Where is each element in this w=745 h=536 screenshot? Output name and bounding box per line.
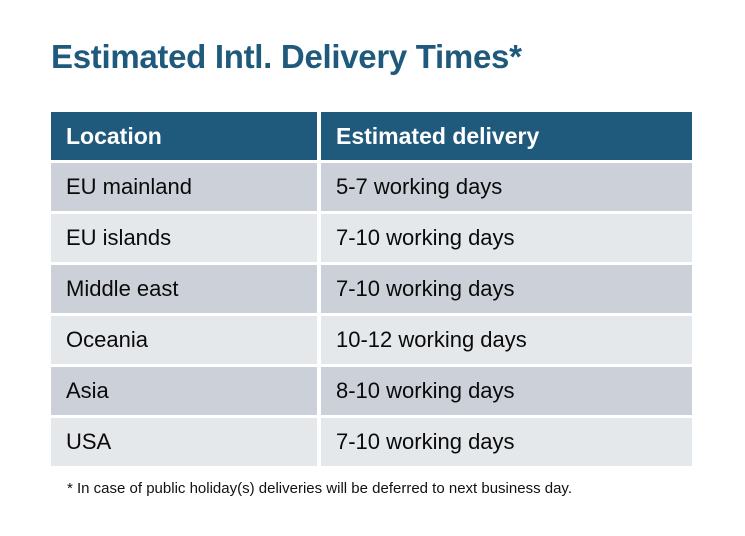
- delivery-times-page: Estimated Intl. Delivery Times* Location…: [0, 0, 745, 536]
- cell-location: EU mainland: [51, 163, 317, 211]
- cell-estimated-delivery: 5-7 working days: [321, 163, 692, 211]
- table-row: EU mainland 5-7 working days: [51, 163, 692, 211]
- cell-estimated-delivery: 8-10 working days: [321, 367, 692, 415]
- cell-estimated-delivery: 7-10 working days: [321, 214, 692, 262]
- cell-location: Middle east: [51, 265, 317, 313]
- cell-estimated-delivery: 10-12 working days: [321, 316, 692, 364]
- table-header-row: Location Estimated delivery: [51, 112, 692, 160]
- table-row: EU islands 7-10 working days: [51, 214, 692, 262]
- footnote: * In case of public holiday(s) deliverie…: [67, 480, 572, 497]
- table-row: Asia 8-10 working days: [51, 367, 692, 415]
- cell-location: Asia: [51, 367, 317, 415]
- cell-location: USA: [51, 418, 317, 466]
- column-header-estimated-delivery: Estimated delivery: [321, 112, 692, 160]
- table-row: USA 7-10 working days: [51, 418, 692, 466]
- cell-estimated-delivery: 7-10 working days: [321, 265, 692, 313]
- cell-location: Oceania: [51, 316, 317, 364]
- column-header-location: Location: [51, 112, 317, 160]
- delivery-times-table: Location Estimated delivery EU mainland …: [51, 112, 692, 466]
- cell-location: EU islands: [51, 214, 317, 262]
- cell-estimated-delivery: 7-10 working days: [321, 418, 692, 466]
- table-row: Middle east 7-10 working days: [51, 265, 692, 313]
- page-title: Estimated Intl. Delivery Times*: [51, 36, 522, 78]
- table-row: Oceania 10-12 working days: [51, 316, 692, 364]
